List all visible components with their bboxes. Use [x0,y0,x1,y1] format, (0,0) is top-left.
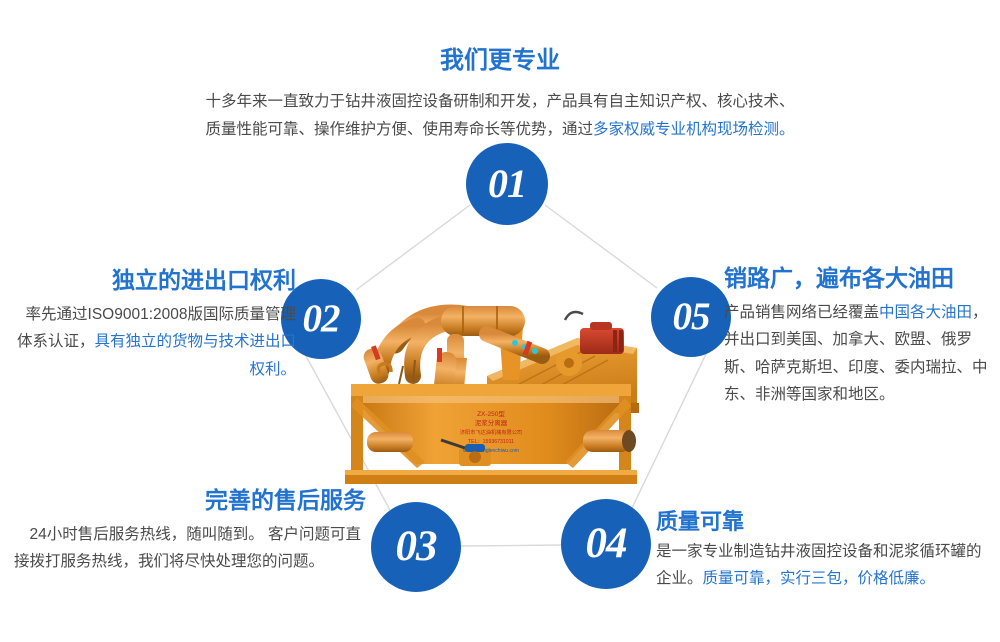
feature-02-body: 率先通过ISO9001:2008版国际质量管理体系认证，具有独立的货物与技术进出… [14,301,296,384]
feature-04-body: 是一家专业制造钻井液固控设备和泥浆循环罐的企业。质量可靠，实行三包，价格低廉。 [656,538,994,593]
feature-02-highlight: 具有独立的货物与技术进出口权利。 [94,333,296,378]
feature-block-05: 销路广，遍布各大油田 产品销售网络已经覆盖中国各大油田，并出口到美国、加拿大、欧… [724,264,996,409]
feature-block-03: 完善的售后服务 24小时售后服务热线，随叫随到。 客户问题可直接拨打服务热线，我… [14,486,366,576]
product-photo-mud-separator: ZX-250型 泥浆分离器 济阳市飞达油机械有限公司 TEL：159367310… [337,248,677,498]
step-badge-01[interactable]: 01 [466,143,548,225]
svg-text:www.shenglenchiwu.com: www.shenglenchiwu.com [463,448,519,454]
feature-05-heading: 销路广，遍布各大油田 [724,264,996,293]
step-badge-03[interactable]: 03 [371,502,461,592]
feature-02-heading: 独立的进出口权利 [14,266,296,295]
feature-block-04: 质量可靠 是一家专业制造钻井液固控设备和泥浆循环罐的企业。质量可靠，实行三包，价… [656,508,994,593]
step-badge-02-label: 02 [303,296,340,341]
step-badge-05-label: 05 [673,294,710,339]
feature-04-highlight: 质量可靠，实行三包，价格低廉。 [703,570,936,587]
feature-03-body: 24小时售后服务热线，随叫随到。 客户问题可直接拨打服务热线，我们将尽快处理您的… [14,521,366,576]
feature-05-plain-1: 产品销售网络已经覆盖 [724,304,879,321]
step-badge-03-label: 03 [396,522,437,571]
svg-text:泥浆分离器: 泥浆分离器 [475,418,508,427]
step-badge-01-label: 01 [488,160,526,207]
feature-04-heading: 质量可靠 [656,508,994,536]
feature-01-body: 十多年来一直致力于钻井液固控设备研制和开发，产品具有自主知识产权、核心技术、 质… [160,88,840,143]
step-badge-04[interactable]: 04 [561,499,651,589]
feature-block-01: 我们更专业 十多年来一直致力于钻井液固控设备研制和开发，产品具有自主知识产权、核… [160,46,840,143]
step-badge-05[interactable]: 05 [651,277,731,357]
feature-pentagon-infographic: ZX-250型 泥浆分离器 济阳市飞达油机械有限公司 TEL：159367310… [0,0,1000,642]
feature-01-line2-highlight: 多家权威专业机构现场检测。 [593,121,795,138]
feature-05-highlight: 中国各大油田 [879,304,972,321]
feature-05-body: 产品销售网络已经覆盖中国各大油田，并出口到美国、加拿大、欧盟、俄罗斯、哈萨克斯坦… [724,299,996,409]
feature-03-heading: 完善的售后服务 [14,486,366,515]
feature-01-heading: 我们更专业 [160,46,840,76]
feature-block-02: 独立的进出口权利 率先通过ISO9001:2008版国际质量管理体系认证，具有独… [14,266,296,383]
feature-01-line2-plain: 质量性能可靠、操作维护方便、使用寿命长等优势，通过 [205,121,593,138]
svg-text:ZX-250型: ZX-250型 [477,409,505,418]
svg-text:济阳市飞达油机械有限公司: 济阳市飞达油机械有限公司 [460,428,522,436]
line-03-04 [459,545,563,546]
feature-01-line1: 十多年来一直致力于钻井液固控设备研制和开发，产品具有自主知识产权、核心技术、 [205,93,794,110]
svg-text:TEL：15936731011: TEL：15936731011 [468,439,514,445]
step-badge-04-label: 04 [586,519,627,568]
